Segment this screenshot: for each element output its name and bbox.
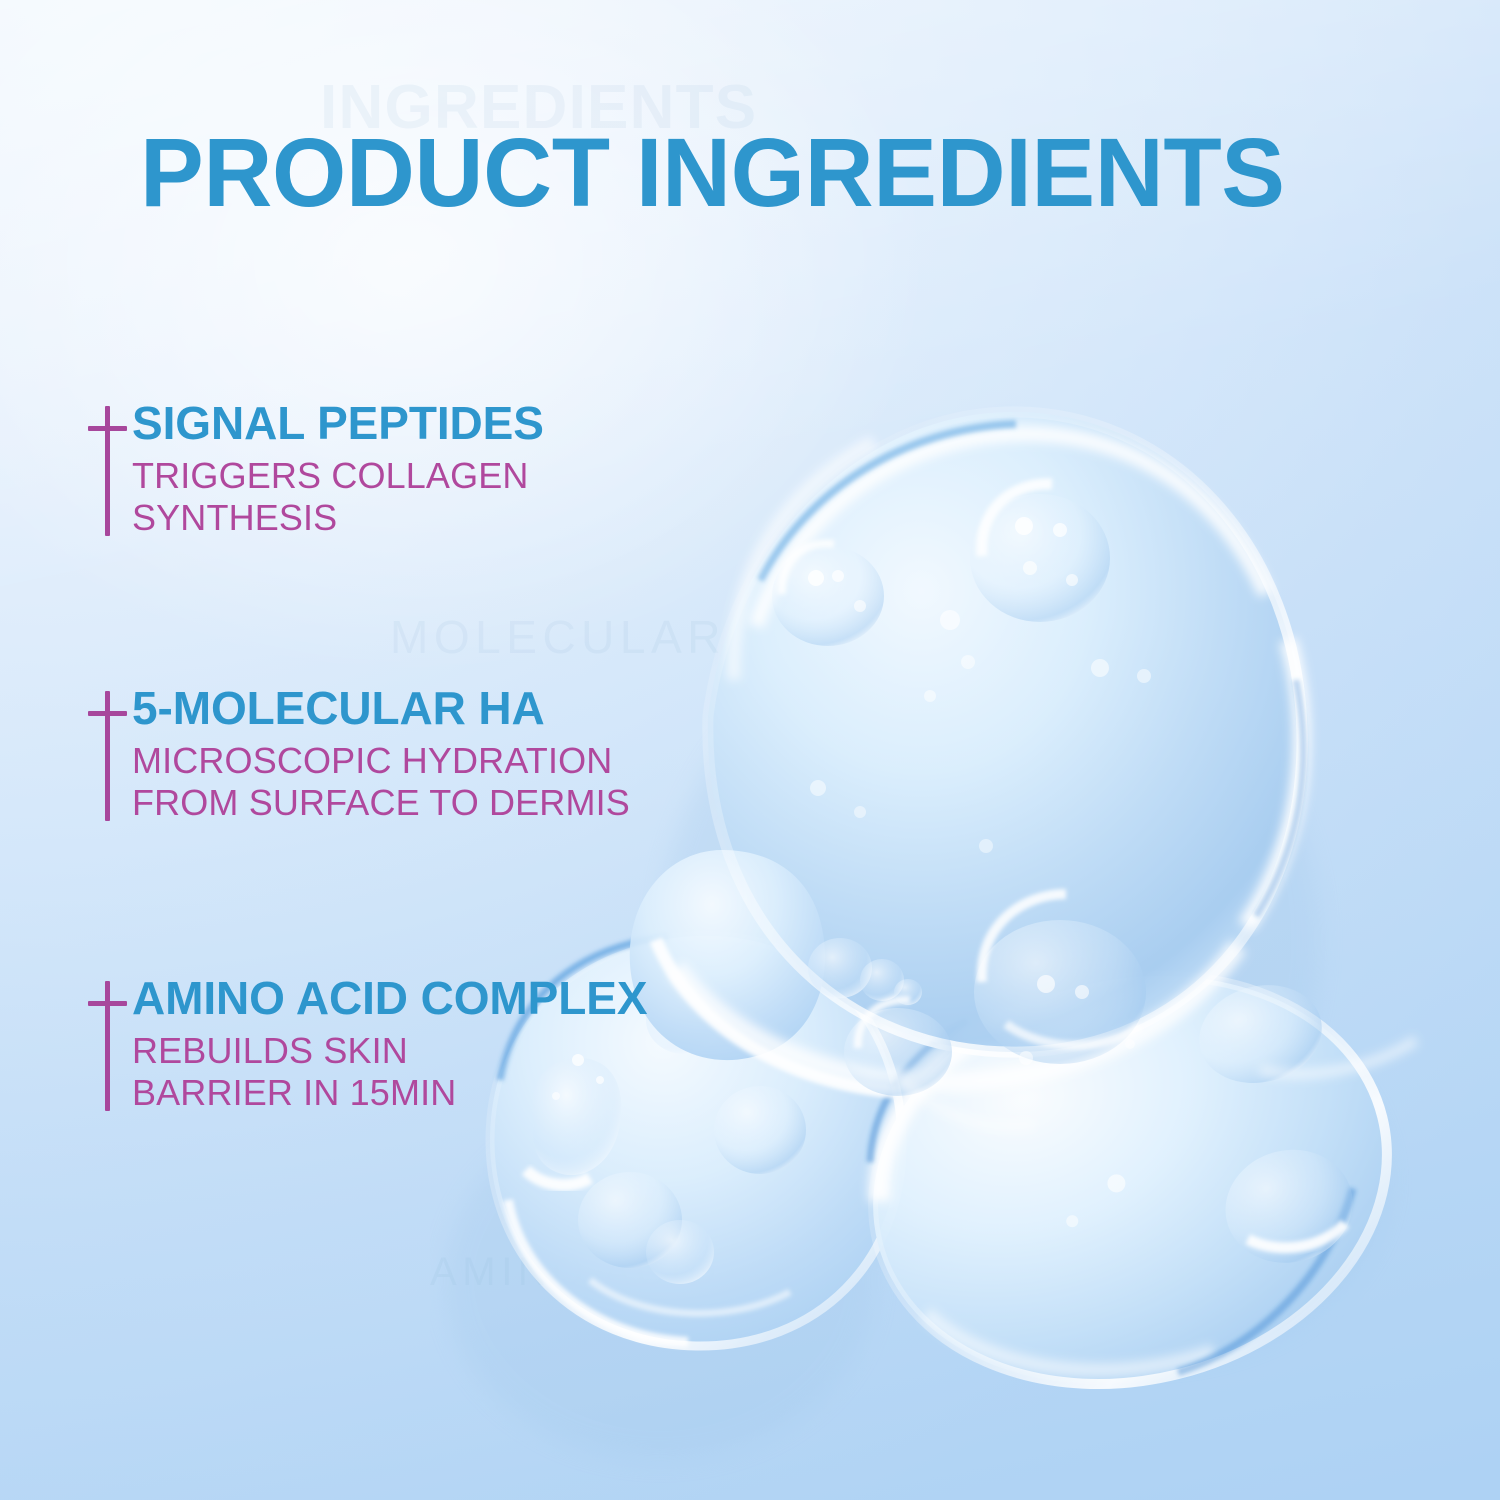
ingredient-item-signal-peptides: SIGNAL PEPTIDES TRIGGERS COLLAGEN SYNTHE… xyxy=(88,400,544,539)
droplet-main-sphere xyxy=(630,412,1304,1096)
ingredient-body: AMINO ACID COMPLEX REBUILDS SKIN BARRIER… xyxy=(132,975,647,1114)
cross-marker-icon xyxy=(88,685,132,821)
cross-marker-horizontal xyxy=(88,711,127,716)
ingredient-name: AMINO ACID COMPLEX xyxy=(132,975,647,1021)
ingredient-item-amino-acid-complex: AMINO ACID COMPLEX REBUILDS SKIN BARRIER… xyxy=(88,975,647,1114)
cross-marker-icon xyxy=(88,975,132,1111)
ingredient-description: TRIGGERS COLLAGEN SYNTHESIS xyxy=(132,455,544,539)
ingredient-body: SIGNAL PEPTIDES TRIGGERS COLLAGEN SYNTHE… xyxy=(132,400,544,539)
cross-marker-icon xyxy=(88,400,132,536)
ingredient-name: SIGNAL PEPTIDES xyxy=(132,400,544,446)
cross-marker-horizontal xyxy=(88,426,127,431)
page-title: PRODUCT INGREDIENTS xyxy=(140,124,1285,221)
ingredient-item-5-molecular-ha: 5-MOLECULAR HA MICROSCOPIC HYDRATION FRO… xyxy=(88,685,630,824)
ingredient-description: MICROSCOPIC HYDRATION FROM SURFACE TO DE… xyxy=(132,740,630,824)
poster-canvas: INGREDIENTS MOLECULAR AMINO ACID xyxy=(0,0,1500,1500)
cross-marker-horizontal xyxy=(88,1001,127,1006)
water-droplet-cluster xyxy=(430,380,1500,1500)
ingredient-description: REBUILDS SKIN BARRIER IN 15MIN xyxy=(132,1030,647,1114)
ingredient-name: 5-MOLECULAR HA xyxy=(132,685,630,731)
ingredient-body: 5-MOLECULAR HA MICROSCOPIC HYDRATION FRO… xyxy=(132,685,630,824)
